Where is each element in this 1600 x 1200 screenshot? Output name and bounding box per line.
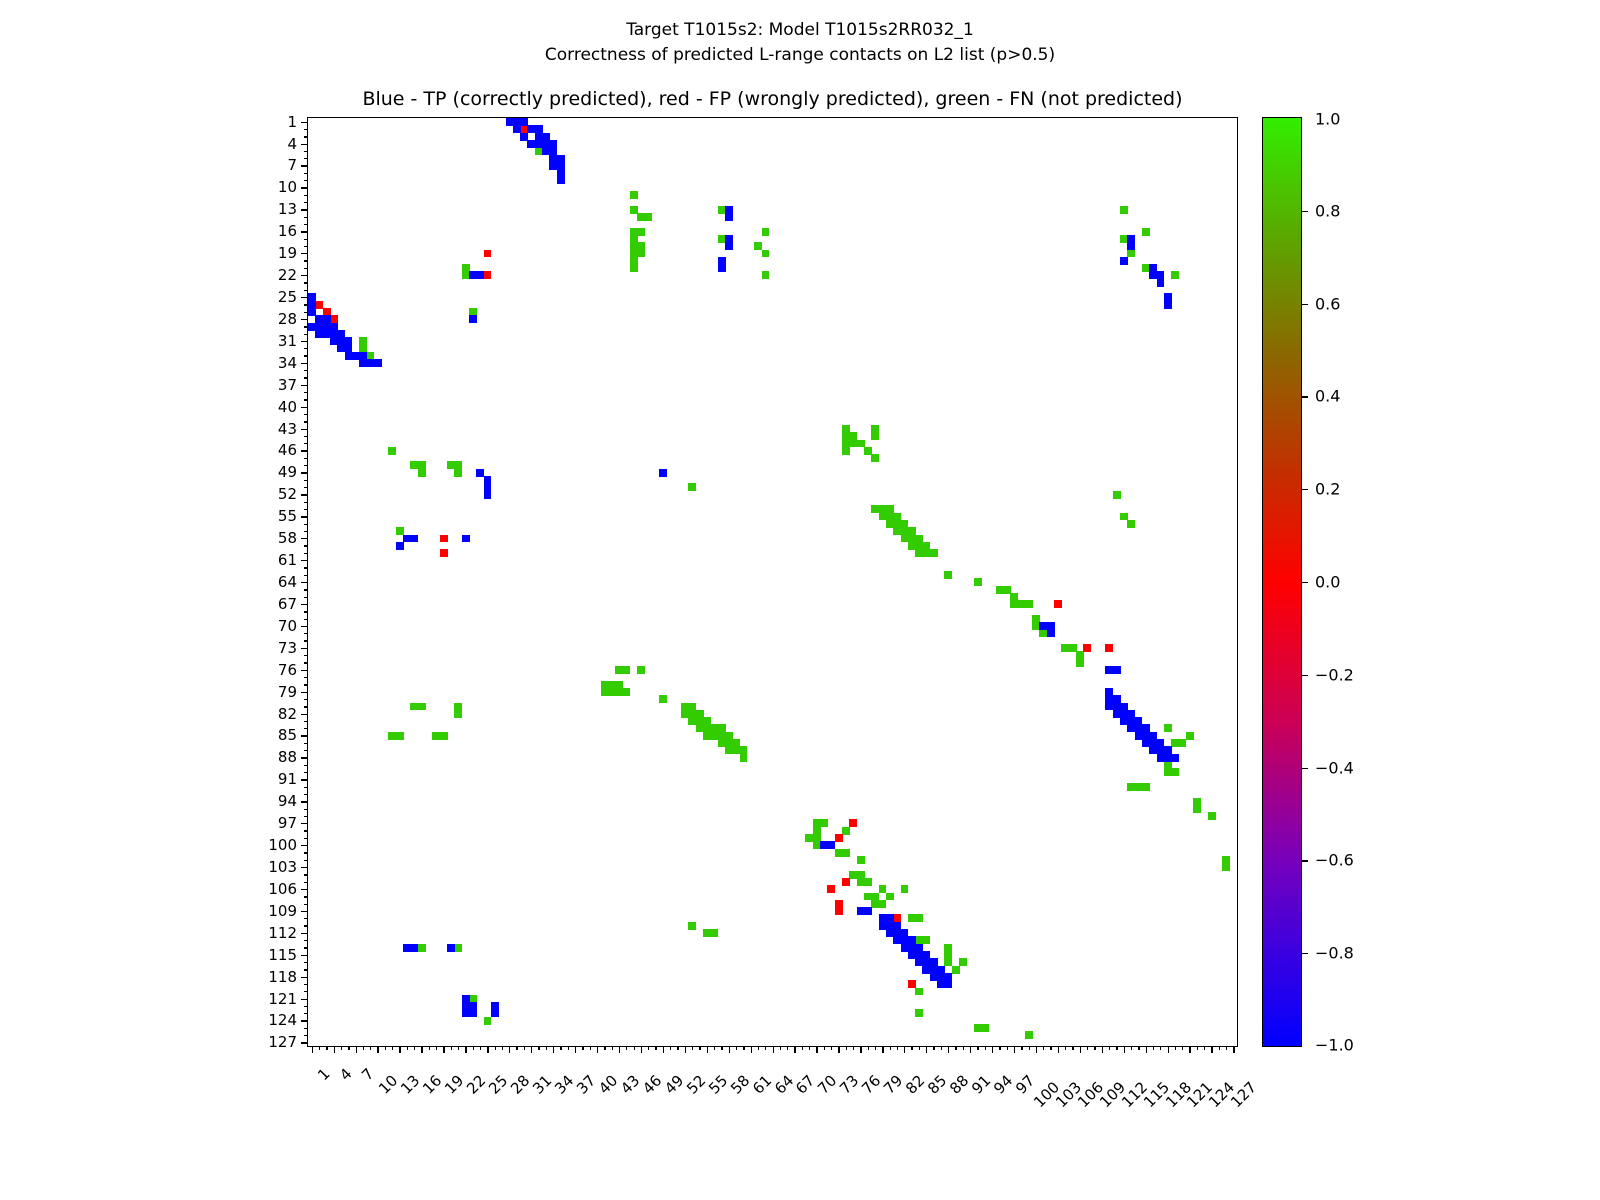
x-axis-tick-major [882, 1046, 883, 1053]
x-axis-tick-major [597, 1046, 598, 1053]
contact-cell-fn [1171, 271, 1179, 279]
contact-cell-fn [484, 1017, 492, 1025]
y-axis-tick-minor [304, 904, 308, 905]
y-axis-tick-major [301, 889, 308, 890]
y-axis-tick-minor [304, 195, 308, 196]
x-axis-tick-minor [582, 1046, 583, 1050]
y-axis-tick-major [301, 297, 308, 298]
contact-cell-fn [842, 849, 850, 857]
y-axis-tick-minor [304, 619, 308, 620]
y-axis-tick-label: 10 [278, 178, 297, 196]
contact-cell-fn [820, 819, 828, 827]
y-axis-tick-minor [304, 377, 308, 378]
y-axis-tick-label: 58 [278, 529, 297, 547]
x-axis-tick-minor [897, 1046, 898, 1050]
x-axis-tick-minor [699, 1046, 700, 1050]
axes-title: Blue - TP (correctly predicted), red - F… [307, 88, 1238, 110]
colorbar-tick [1301, 675, 1308, 676]
y-axis-tick-label: 34 [278, 354, 297, 372]
y-axis-tick-label: 16 [278, 222, 297, 240]
y-axis-tick-minor [304, 509, 308, 510]
y-axis-tick-major [301, 450, 308, 451]
y-axis-tick-minor [304, 458, 308, 459]
contact-cell-fn [440, 732, 448, 740]
x-axis-tick-minor [933, 1046, 934, 1050]
x-axis-tick-minor [911, 1046, 912, 1050]
y-axis-tick-minor [304, 962, 308, 963]
x-axis-tick-minor [743, 1046, 744, 1050]
y-axis-tick-major [301, 604, 308, 605]
figure-suptitle: Target T1015s2: Model T1015s2RR032_1 Cor… [0, 18, 1600, 68]
contact-cell-fn [688, 922, 696, 930]
contact-cell-fp [440, 549, 448, 557]
y-axis-tick-label: 85 [278, 726, 297, 744]
y-axis-tick-label: 94 [278, 792, 297, 810]
x-axis-tick-minor [538, 1046, 539, 1050]
contact-cell-fp [827, 885, 835, 893]
colorbar-tick [1301, 860, 1308, 861]
y-axis-tick-major [301, 977, 308, 978]
contact-cell-tp [469, 1009, 477, 1017]
x-axis-tick-major [926, 1046, 927, 1053]
x-axis-tick-minor [1072, 1046, 1073, 1050]
y-axis-tick-major [301, 165, 308, 166]
y-axis-tick-minor [304, 268, 308, 269]
contact-map-plot[interactable]: 1144771010131316161919222225252828313134… [307, 117, 1238, 1047]
contact-cell-fn [740, 754, 748, 762]
x-axis-tick-minor [480, 1046, 481, 1050]
y-axis-tick-label: 25 [278, 288, 297, 306]
contact-cell-fn [1127, 250, 1135, 258]
y-axis-tick-label: 124 [268, 1011, 297, 1029]
x-axis-tick-minor [1007, 1046, 1008, 1050]
contact-cell-fp [1083, 644, 1091, 652]
x-axis-tick-minor [780, 1046, 781, 1050]
contact-cell-tp [410, 944, 418, 952]
y-axis-tick-major [301, 735, 308, 736]
contact-cell-tp [1127, 242, 1135, 250]
y-axis-tick-minor [304, 151, 308, 152]
x-axis-tick-minor [1094, 1046, 1095, 1050]
y-axis-tick-minor [304, 487, 308, 488]
y-axis-tick-major [301, 1020, 308, 1021]
contact-cell-fn [842, 447, 850, 455]
y-axis-tick-minor [304, 312, 308, 313]
x-axis-tick-minor [612, 1046, 613, 1050]
contact-cell-fn [864, 878, 872, 886]
x-axis-tick-label: 1 [314, 1065, 333, 1084]
y-axis-tick-major [301, 670, 308, 671]
x-axis-tick-minor [853, 1046, 854, 1050]
x-axis-tick-major [751, 1046, 752, 1053]
contact-cell-fn [915, 1009, 923, 1017]
y-axis-tick-label: 103 [268, 858, 297, 876]
contact-cell-fn [1142, 228, 1150, 236]
x-axis-tick-major [948, 1046, 949, 1053]
x-axis-tick-minor [1197, 1046, 1198, 1050]
contact-cell-tp [1120, 257, 1128, 265]
contact-map-figure: Target T1015s2: Model T1015s2RR032_1 Cor… [0, 0, 1600, 1200]
y-axis-tick-label: 100 [268, 836, 297, 854]
contact-cell-fn [762, 250, 770, 258]
contact-cell-fn [1193, 805, 1201, 813]
y-axis-tick-minor [304, 348, 308, 349]
x-axis-tick-minor [787, 1046, 788, 1050]
x-axis-tick-minor [714, 1046, 715, 1050]
y-axis-tick-major [301, 999, 308, 1000]
y-axis-tick-major [301, 122, 308, 123]
y-axis-tick-minor [304, 728, 308, 729]
x-axis-tick-minor [516, 1046, 517, 1050]
contact-cell-tp [1157, 279, 1165, 287]
contact-cell-tp [396, 542, 404, 550]
y-axis-tick-minor [304, 750, 308, 751]
y-axis-tick-major [301, 560, 308, 561]
contact-cell-fn [944, 951, 952, 959]
x-axis-tick-label: 7 [358, 1065, 377, 1084]
y-axis-tick-minor [304, 136, 308, 137]
x-axis-tick-major [356, 1046, 357, 1053]
x-axis-tick-major [553, 1046, 554, 1053]
x-axis-tick-major [838, 1046, 839, 1053]
x-axis-tick-minor [1175, 1046, 1176, 1050]
y-axis-tick-minor [304, 180, 308, 181]
y-axis-tick-minor [304, 896, 308, 897]
x-axis-tick-minor [407, 1046, 408, 1050]
x-axis-tick-minor [319, 1046, 320, 1050]
contact-cell-tp [462, 535, 470, 543]
contact-cell-fn [644, 213, 652, 221]
x-axis-tick-major [729, 1046, 730, 1053]
y-axis-tick-label: 127 [268, 1033, 297, 1051]
x-axis-tick-minor [802, 1046, 803, 1050]
y-axis-tick-minor [304, 545, 308, 546]
contact-cell-fn [1025, 600, 1033, 608]
contact-cell-tp [827, 841, 835, 849]
x-axis-tick-major [773, 1046, 774, 1053]
y-axis-tick-label: 109 [268, 902, 297, 920]
contact-cell-fn [959, 958, 967, 966]
x-axis-tick-minor [429, 1046, 430, 1050]
y-axis-tick-label: 43 [278, 420, 297, 438]
contact-cell-fn [1025, 1031, 1033, 1039]
y-axis-tick-label: 4 [287, 135, 297, 153]
y-axis-tick-major [301, 933, 308, 934]
y-axis-tick-major [301, 1042, 308, 1043]
y-axis-tick-minor [304, 969, 308, 970]
y-axis-tick-minor [304, 816, 308, 817]
y-axis-tick-label: 37 [278, 376, 297, 394]
contact-cell-fp [484, 271, 492, 279]
y-axis-tick-minor [304, 334, 308, 335]
y-axis-tick-minor [304, 684, 308, 685]
y-axis-tick-minor [304, 239, 308, 240]
contact-cell-fn [710, 929, 718, 937]
contact-cell-fn [630, 264, 638, 272]
contact-cell-fn [454, 710, 462, 718]
x-axis-tick-minor [758, 1046, 759, 1050]
x-axis-tick-minor [677, 1046, 678, 1050]
y-axis-tick-minor [304, 421, 308, 422]
contact-cell-fn [1178, 739, 1186, 747]
y-axis-tick-minor [304, 860, 308, 861]
y-axis-tick-minor [304, 677, 308, 678]
y-axis-tick-major [301, 779, 308, 780]
y-axis-tick-label: 46 [278, 441, 297, 459]
y-axis-tick-label: 13 [278, 200, 297, 218]
y-axis-tick-minor [304, 567, 308, 568]
x-axis-tick-minor [648, 1046, 649, 1050]
contact-cell-fn [623, 688, 631, 696]
x-axis-tick-major [1036, 1046, 1037, 1053]
x-axis-tick-minor [831, 1046, 832, 1050]
y-axis-tick-major [301, 867, 308, 868]
x-axis-tick-major [1168, 1046, 1169, 1053]
y-axis-tick-minor [304, 202, 308, 203]
x-axis-tick-minor [1043, 1046, 1044, 1050]
x-axis-tick-minor [473, 1046, 474, 1050]
y-axis-tick-major [301, 275, 308, 276]
y-axis-tick-label: 49 [278, 463, 297, 481]
y-axis-tick-major [301, 516, 308, 517]
contact-cell-fn [1076, 659, 1084, 667]
y-axis-tick-minor [304, 925, 308, 926]
contact-cell-fp [835, 907, 843, 915]
x-axis-tick-minor [568, 1046, 569, 1050]
x-axis-tick-minor [326, 1046, 327, 1050]
y-axis-tick-label: 28 [278, 310, 297, 328]
x-axis-tick-major [1124, 1046, 1125, 1053]
x-axis-tick-major [970, 1046, 971, 1053]
contact-cell-tp [659, 469, 667, 477]
x-axis-tick-major [860, 1046, 861, 1053]
contact-cell-fn [637, 250, 645, 258]
contact-cell-fn [886, 893, 894, 901]
colorbar-tick-label: −0.8 [1315, 944, 1354, 963]
y-axis-tick-major [301, 911, 308, 912]
contact-cell-fn [1120, 206, 1128, 214]
x-axis-tick-major [531, 1046, 532, 1053]
contact-cell-tp [491, 1009, 499, 1017]
x-axis-tick-minor [1087, 1046, 1088, 1050]
contact-cell-fn [762, 271, 770, 279]
contact-cell-fn [1222, 863, 1230, 871]
contact-cell-fn [952, 966, 960, 974]
contact-cell-tp [944, 980, 952, 988]
x-axis-tick-minor [341, 1046, 342, 1050]
x-axis-tick-major [1014, 1046, 1015, 1053]
x-axis-tick-minor [890, 1046, 891, 1050]
contact-cell-fn [637, 228, 645, 236]
y-axis-tick-minor [304, 290, 308, 291]
x-axis-tick-minor [1226, 1046, 1227, 1050]
contact-cell-fn [901, 885, 909, 893]
contact-cell-fn [974, 578, 982, 586]
x-axis-tick-major [334, 1046, 335, 1053]
x-axis-tick-major [487, 1046, 488, 1053]
y-axis-tick-minor [304, 984, 308, 985]
y-axis-tick-label: 31 [278, 332, 297, 350]
y-axis-tick-label: 1 [287, 113, 297, 131]
contact-cell-fn [944, 571, 952, 579]
contact-cell-fp [908, 980, 916, 988]
contact-cell-fn [396, 732, 404, 740]
contact-cell-fn [418, 944, 426, 952]
x-axis-tick-major [312, 1046, 313, 1053]
y-axis-tick-major [301, 648, 308, 649]
x-axis-tick-minor [524, 1046, 525, 1050]
y-axis-tick-major [301, 714, 308, 715]
x-axis-tick-minor [977, 1046, 978, 1050]
x-axis-tick-minor [955, 1046, 956, 1050]
y-axis-tick-minor [304, 838, 308, 839]
y-axis-tick-major [301, 385, 308, 386]
y-axis-tick-label: 40 [278, 398, 297, 416]
x-axis-tick-major [399, 1046, 400, 1053]
contact-cell-fn [922, 936, 930, 944]
y-axis-tick-major [301, 231, 308, 232]
contact-cell-fp [440, 535, 448, 543]
x-axis-tick-minor [985, 1046, 986, 1050]
y-axis-tick-minor [304, 246, 308, 247]
x-axis-tick-minor [809, 1046, 810, 1050]
y-axis-tick-minor [304, 355, 308, 356]
contact-cell-fp [1105, 644, 1113, 652]
contact-cell-fn [688, 483, 696, 491]
contact-cell-tp [718, 264, 726, 272]
contact-cell-fp [1054, 600, 1062, 608]
contact-cell-fn [388, 447, 396, 455]
y-axis-tick-major [301, 845, 308, 846]
contact-cell-fn [930, 549, 938, 557]
y-axis-tick-label: 55 [278, 507, 297, 525]
y-axis-tick-label: 73 [278, 639, 297, 657]
y-axis-tick-minor [304, 947, 308, 948]
x-axis-tick-minor [502, 1046, 503, 1050]
contact-cell-fn [879, 900, 887, 908]
x-axis-tick-major [1146, 1046, 1147, 1053]
y-axis-tick-label: 88 [278, 748, 297, 766]
y-axis-tick-label: 61 [278, 551, 297, 569]
contact-cell-fn [1186, 732, 1194, 740]
y-axis-tick-minor [304, 436, 308, 437]
x-axis-tick-minor [1204, 1046, 1205, 1050]
y-axis-tick-label: 64 [278, 573, 297, 591]
contact-cell-fn [981, 1024, 989, 1032]
y-axis-tick-label: 82 [278, 705, 297, 723]
y-axis-tick-label: 97 [278, 814, 297, 832]
contact-cell-fn [1142, 783, 1150, 791]
contact-cell-fn [1164, 724, 1172, 732]
y-axis-tick-minor [304, 633, 308, 634]
contact-cell-fn [637, 666, 645, 674]
x-axis-tick-minor [1153, 1046, 1154, 1050]
colorbar-tick-label: 0.8 [1315, 201, 1340, 220]
x-axis-tick-major [707, 1046, 708, 1053]
colorbar-tick-label: −0.4 [1315, 758, 1354, 777]
contact-cells-layer [308, 118, 1237, 1046]
y-axis-tick-major [301, 209, 308, 210]
y-axis-tick-minor [304, 765, 308, 766]
y-axis-tick-minor [304, 282, 308, 283]
x-axis-tick-minor [604, 1046, 605, 1050]
x-axis-tick-minor [546, 1046, 547, 1050]
contact-cell-fn [762, 228, 770, 236]
x-axis-tick-minor [385, 1046, 386, 1050]
colorbar: 1.00.80.60.40.20.0−0.2−0.4−0.6−0.8−1.0 [1262, 117, 1302, 1047]
contact-cell-fn [1208, 812, 1216, 820]
contact-cell-tp [447, 944, 455, 952]
colorbar-tick-label: −0.2 [1315, 665, 1354, 684]
x-axis-tick-minor [963, 1046, 964, 1050]
contact-cell-tp [1171, 754, 1179, 762]
y-axis-tick-minor [304, 874, 308, 875]
colorbar-tick-label: 0.4 [1315, 387, 1340, 406]
x-axis-tick-minor [824, 1046, 825, 1050]
y-axis-tick-label: 52 [278, 485, 297, 503]
colorbar-tick-label: 0.0 [1315, 573, 1340, 592]
y-axis-tick-minor [304, 611, 308, 612]
x-axis-tick-major [1233, 1046, 1234, 1053]
x-axis-tick-minor [1138, 1046, 1139, 1050]
x-axis-tick-major [641, 1046, 642, 1053]
y-axis-tick-minor [304, 414, 308, 415]
y-axis-tick-major [301, 955, 308, 956]
y-axis-tick-minor [304, 553, 308, 554]
x-axis-tick-major [685, 1046, 686, 1053]
x-axis-tick-minor [560, 1046, 561, 1050]
y-axis-tick-major [301, 692, 308, 693]
contact-cell-fn [454, 469, 462, 477]
x-axis-tick-major [1189, 1046, 1190, 1053]
y-axis-tick-minor [304, 743, 308, 744]
y-axis-tick-major [301, 144, 308, 145]
x-axis-tick-minor [370, 1046, 371, 1050]
y-axis-tick-minor [304, 787, 308, 788]
colorbar-tick [1301, 304, 1308, 305]
colorbar-tick-label: 0.2 [1315, 480, 1340, 499]
x-axis-tick-minor [363, 1046, 364, 1050]
y-axis-tick-label: 118 [268, 968, 297, 986]
y-axis-tick-minor [304, 326, 308, 327]
x-axis-tick-minor [875, 1046, 876, 1050]
contact-cell-fn [1171, 768, 1179, 776]
y-axis-tick-minor [304, 524, 308, 525]
y-axis-tick-label: 112 [268, 924, 297, 942]
x-axis-tick-minor [1065, 1046, 1066, 1050]
contact-cell-tp [725, 213, 733, 221]
y-axis-tick-minor [304, 721, 308, 722]
x-axis-tick-minor [436, 1046, 437, 1050]
colorbar-gradient [1263, 118, 1301, 1046]
x-axis-tick-major [1102, 1046, 1103, 1053]
contact-cell-tp [484, 491, 492, 499]
contact-cell-fn [857, 856, 865, 864]
x-axis-tick-label: 4 [336, 1065, 355, 1084]
x-axis-tick-minor [634, 1046, 635, 1050]
y-axis-tick-minor [304, 830, 308, 831]
y-axis-tick-minor [304, 655, 308, 656]
y-axis-tick-minor [304, 809, 308, 810]
y-axis-tick-minor [304, 173, 308, 174]
colorbar-tick [1301, 396, 1308, 397]
contact-cell-fp [849, 819, 857, 827]
y-axis-tick-label: 67 [278, 595, 297, 613]
y-axis-tick-minor [304, 597, 308, 598]
contact-cell-fn [1113, 491, 1121, 499]
contact-cell-tp [725, 242, 733, 250]
y-axis-tick-label: 79 [278, 683, 297, 701]
